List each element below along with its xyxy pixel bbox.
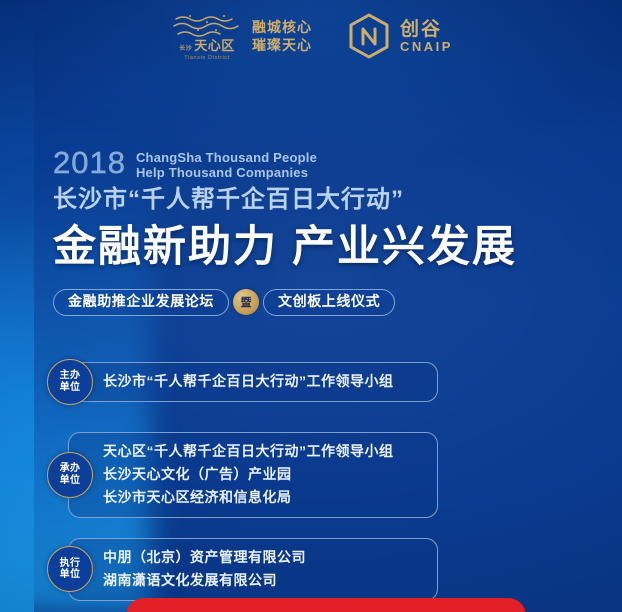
org-badge-host-line2: 单位 [60, 382, 81, 394]
org-executor-line-2: 湖南潇语文化发展有限公司 [103, 572, 421, 590]
tianxin-name-main: 天心区 [194, 39, 235, 53]
event-pill-row: 金融助推企业发展论坛 暨 文创板上线仪式 [53, 289, 395, 316]
org-badge-host-line1: 主办 [60, 370, 81, 382]
cnaip-name-cn: 创谷 [400, 20, 453, 39]
tianxin-name-en: Tianxin District [184, 55, 229, 61]
tianxin-district-logo: 长沙 天心区 Tianxin District 融城核心 璀璨天心 [169, 13, 312, 61]
tianxin-name-prefix: 长沙 [179, 46, 192, 53]
tianxin-slogan-line2: 璀璨天心 [252, 37, 312, 55]
pill-ceremony-label: 文创板上线仪式 [263, 289, 395, 316]
tianxin-slogan: 融城核心 璀璨天心 [252, 19, 312, 55]
title-block: 2018 ChangSha Thousand People Help Thous… [53, 148, 573, 271]
cnaip-text: 创谷 CNAIP [400, 20, 453, 53]
main-headline: 金融新助力 产业兴发展 [53, 223, 573, 271]
pill-connector-badge: 暨 [233, 289, 259, 315]
org-organizer-line-3: 长沙市天心区经济和信息化局 [103, 489, 421, 507]
background-left-edge-light [0, 0, 34, 612]
org-badge-organizer-line2: 单位 [60, 475, 81, 487]
org-host-lines: 长沙市“千人帮千企百日大行动”工作领导小组 [69, 363, 437, 401]
tianxin-name: 长沙 天心区 [179, 39, 235, 53]
org-block-host: 主办 单位 长沙市“千人帮千企百日大行动”工作领导小组 [68, 362, 438, 402]
tianxin-mark: 长沙 天心区 Tianxin District [169, 13, 245, 61]
org-organizer-line-2: 长沙天心文化（广告）产业园 [103, 466, 421, 484]
tianxin-slogan-line1: 融城核心 [252, 19, 312, 37]
pill-forum-label: 金融助推企业发展论坛 [53, 289, 229, 316]
chinese-subtitle: 长沙市“千人帮千企百日大行动” [53, 186, 573, 214]
org-badge-host: 主办 单位 [47, 359, 93, 405]
bottom-red-banner [126, 598, 526, 612]
event-year: 2018 [53, 148, 126, 177]
org-organizer-line-1: 天心区“千人帮千企百日大行动”工作领导小组 [103, 443, 421, 461]
org-block-executor: 执行 单位 中朋（北京）资产管理有限公司 湖南潇语文化发展有限公司 [68, 538, 438, 601]
org-badge-organizer-line1: 承办 [60, 463, 81, 475]
org-organizer-lines: 天心区“千人帮千企百日大行动”工作领导小组 长沙天心文化（广告）产业园 长沙市天… [69, 433, 437, 517]
org-badge-organizer: 承办 单位 [47, 452, 93, 498]
org-badge-executor-line2: 单位 [60, 569, 81, 581]
header-logos: 长沙 天心区 Tianxin District 融城核心 璀璨天心 创谷 CNA… [0, 13, 622, 61]
org-host-line-1: 长沙市“千人帮千企百日大行动”工作领导小组 [103, 373, 421, 391]
english-subtitle-line2: Help Thousand Companies [136, 165, 317, 180]
english-subtitle-line1: ChangSha Thousand People [136, 150, 317, 165]
cnaip-name-en: CNAIP [400, 40, 453, 53]
year-and-english: 2018 ChangSha Thousand People Help Thous… [53, 148, 573, 181]
org-badge-executor: 执行 单位 [47, 546, 93, 592]
org-executor-lines: 中朋（北京）资产管理有限公司 湖南潇语文化发展有限公司 [69, 539, 437, 600]
cnaip-logo: 创谷 CNAIP [346, 13, 453, 59]
english-subtitle: ChangSha Thousand People Help Thousand C… [136, 148, 317, 181]
water-waves-icon [170, 13, 244, 39]
hexagon-n-logo-icon [346, 13, 392, 59]
org-block-organizer: 承办 单位 天心区“千人帮千企百日大行动”工作领导小组 长沙天心文化（广告）产业… [68, 432, 438, 518]
poster-canvas: 长沙 天心区 Tianxin District 融城核心 璀璨天心 创谷 CNA… [0, 0, 622, 612]
org-executor-line-1: 中朋（北京）资产管理有限公司 [103, 549, 421, 567]
org-badge-executor-line1: 执行 [60, 558, 81, 570]
